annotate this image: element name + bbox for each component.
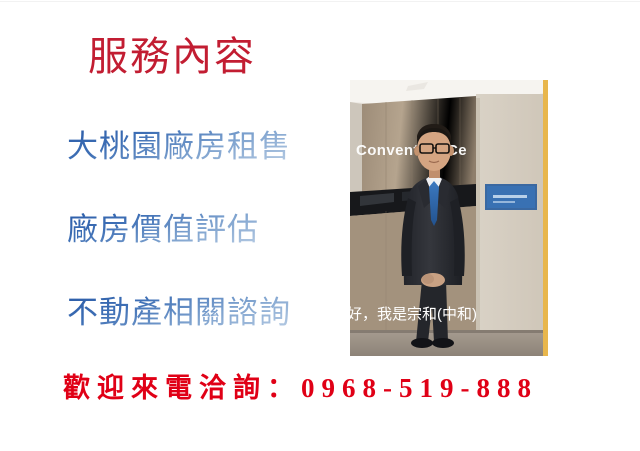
top-divider (0, 1, 640, 2)
photo-caption: 您好，我是宗和(中和) (332, 305, 477, 325)
contact-phone-line: 歡迎來電洽詢：0968-519-888 (63, 372, 538, 404)
service-item-3: 不動產相關諮詢 (67, 295, 291, 331)
service-item-2: 廠房價值評估 (67, 212, 259, 248)
slide-canvas: 服務內容 大桃園廠房租售 廠房價值評估 不動產相關諮詢 歡迎來電洽詢：0968-… (0, 0, 640, 451)
page-title: 服務內容 (88, 34, 256, 80)
service-item-1: 大桃園廠房租售 (67, 129, 291, 165)
